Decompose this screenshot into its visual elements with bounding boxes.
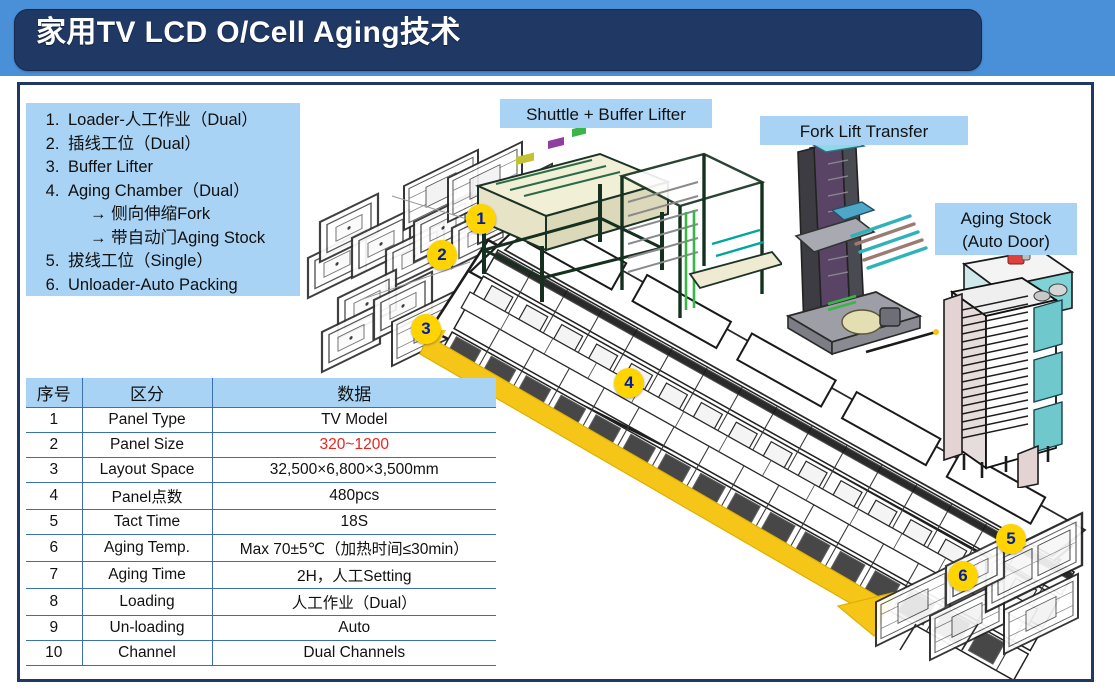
cell-no: 6	[26, 535, 82, 562]
cell-no: 10	[26, 641, 82, 666]
column-header-item: 区分	[82, 378, 212, 408]
table-header-row: 序号 区分 数据	[26, 378, 496, 408]
cell-item: Channel	[82, 641, 212, 666]
marker-4: 4	[614, 368, 644, 398]
cell-item: Un-loading	[82, 616, 212, 641]
cell-item: Loading	[82, 589, 212, 616]
label-aging-stock: Aging Stock (Auto Door)	[935, 203, 1077, 255]
cell-no: 7	[26, 562, 82, 589]
cell-item: Panel点数	[82, 483, 212, 510]
cell-value: 2H，人工Setting	[212, 562, 496, 589]
cell-item: Panel Type	[82, 408, 212, 433]
cell-no: 1	[26, 408, 82, 433]
page-title: 家用TV LCD O/Cell Aging技术	[36, 16, 936, 50]
cell-value: Dual Channels	[212, 641, 496, 666]
cell-no: 2	[26, 433, 82, 458]
cell-value: 320~1200	[212, 433, 496, 458]
marker-5: 5	[996, 524, 1026, 554]
table-row: 1 Panel Type TV Model	[26, 408, 496, 433]
table-row: 8 Loading 人工作业（Dual）	[26, 589, 496, 616]
label-fork-lift-transfer: Fork Lift Transfer	[760, 116, 968, 145]
cell-value: Max 70±5℃（加热时间≤30min）	[212, 535, 496, 562]
spec-table: 序号 区分 数据 1 Panel Type TV Model 2 Panel S…	[26, 378, 496, 666]
table-row: 3 Layout Space 32,500×6,800×3,500mm	[26, 458, 496, 483]
table-row: 5 Tact Time 18S	[26, 510, 496, 535]
marker-2: 2	[427, 240, 457, 270]
cell-value: TV Model	[212, 408, 496, 433]
cell-value: Auto	[212, 616, 496, 641]
cell-item: Tact Time	[82, 510, 212, 535]
cell-no: 8	[26, 589, 82, 616]
list-item: 插线工位（Dual）	[64, 133, 296, 157]
table-row: 4 Panel点数 480pcs	[26, 483, 496, 510]
cell-no: 9	[26, 616, 82, 641]
marker-3: 3	[411, 314, 441, 344]
process-list: Loader-人工作业（Dual） 插线工位（Dual） Buffer Lift…	[26, 103, 300, 296]
table-row: 6 Aging Temp. Max 70±5℃（加热时间≤30min）	[26, 535, 496, 562]
column-header-no: 序号	[26, 378, 82, 408]
marker-1: 1	[466, 204, 496, 234]
table-row: 10 Channel Dual Channels	[26, 641, 496, 666]
cell-value: 18S	[212, 510, 496, 535]
table-row: 7 Aging Time 2H，人工Setting	[26, 562, 496, 589]
sub-item-fork: → 侧向伸缩Fork	[34, 203, 296, 227]
column-header-value: 数据	[212, 378, 496, 408]
cell-value: 32,500×6,800×3,500mm	[212, 458, 496, 483]
sub-item-stock: → 带自动门Aging Stock	[34, 227, 296, 251]
cell-item: Layout Space	[82, 458, 212, 483]
label-aging-stock-line1: Aging Stock	[945, 207, 1067, 230]
list-item: Loader-人工作业（Dual）	[64, 109, 296, 133]
cell-no: 3	[26, 458, 82, 483]
process-list-items: Loader-人工作业（Dual） 插线工位（Dual） Buffer Lift…	[34, 109, 296, 203]
list-item: Buffer Lifter	[64, 156, 296, 180]
label-shuttle-buffer-lifter: Shuttle + Buffer Lifter	[500, 99, 712, 128]
table-body: 1 Panel Type TV Model 2 Panel Size 320~1…	[26, 408, 496, 666]
list-item: 拔线工位（Single）	[64, 250, 296, 274]
process-list-items-cont: 拔线工位（Single） Unloader-Auto Packing	[34, 250, 296, 297]
cell-item: Aging Time	[82, 562, 212, 589]
cell-item: Aging Temp.	[82, 535, 212, 562]
cell-value: 480pcs	[212, 483, 496, 510]
cell-value: 人工作业（Dual）	[212, 589, 496, 616]
slide-canvas: 家用TV LCD O/Cell Aging技术	[0, 0, 1115, 698]
list-item: Aging Chamber（Dual）	[64, 180, 296, 204]
list-item: Unloader-Auto Packing	[64, 274, 296, 298]
cell-no: 4	[26, 483, 82, 510]
cell-no: 5	[26, 510, 82, 535]
table-row: 9 Un-loading Auto	[26, 616, 496, 641]
cell-item: Panel Size	[82, 433, 212, 458]
label-aging-stock-line2: (Auto Door)	[945, 230, 1067, 253]
marker-6: 6	[948, 561, 978, 591]
table-row: 2 Panel Size 320~1200	[26, 433, 496, 458]
